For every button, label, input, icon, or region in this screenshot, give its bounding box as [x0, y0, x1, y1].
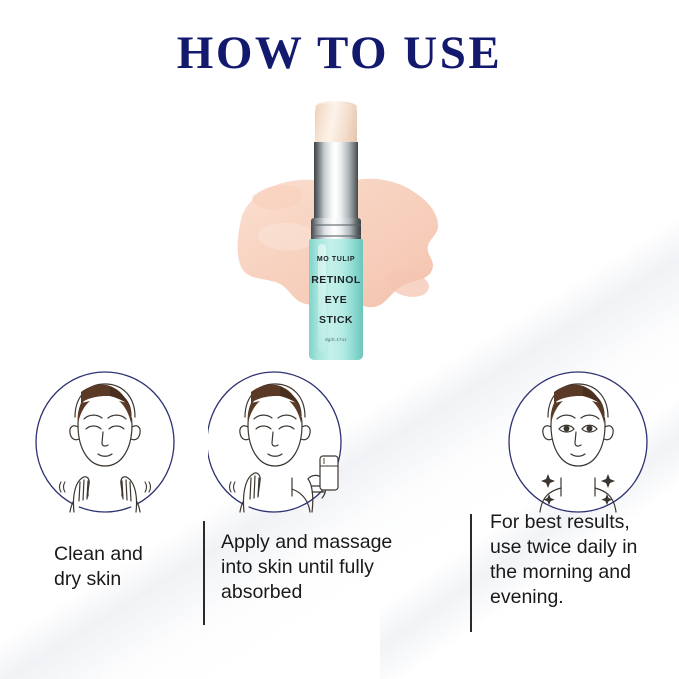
step-1-caption-line-2: dry skin — [54, 567, 143, 592]
chrome-barrel — [314, 142, 358, 220]
step-3-caption-line-2: use twice daily in — [490, 535, 637, 560]
product-net-weight: 8g/0.17oz — [309, 337, 363, 342]
collar-groove-top — [311, 224, 361, 226]
held-product-icon — [320, 456, 338, 490]
step-3-caption-line-3: the morning and — [490, 560, 637, 585]
step-divider-2 — [470, 514, 472, 632]
step-2: Apply and massage into skin until fully … — [208, 370, 458, 515]
step-2-caption: Apply and massage into skin until fully … — [221, 530, 392, 605]
step-3-illustration — [478, 370, 678, 515]
step-3-caption-line-1: For best results, — [490, 510, 637, 535]
step-1-caption-line-1: Clean and — [54, 542, 143, 567]
page-title: HOW TO USE — [0, 26, 679, 80]
step-2-illustration — [208, 370, 458, 515]
product-stick: MO TULIP RETINOL EYE STICK 8g/0.17oz — [300, 98, 372, 366]
hero-product-section: MO TULIP RETINOL EYE STICK 8g/0.17oz — [0, 90, 679, 375]
balm-tip — [315, 104, 357, 144]
step-1-illustration — [18, 370, 193, 515]
product-name-line2: EYE — [309, 294, 363, 306]
step-1: Clean and dry skin — [18, 370, 193, 515]
collar-groove-bottom — [311, 235, 361, 237]
step-2-caption-line-1: Apply and massage — [221, 530, 392, 555]
step-3-caption: For best results, use twice daily in the… — [490, 510, 637, 610]
steps-section: Clean and dry skin — [0, 370, 679, 679]
product-name-line3: STICK — [309, 314, 363, 326]
step-3-caption-line-4: evening. — [490, 585, 637, 610]
how-to-use-infographic: HOW TO USE — [0, 0, 679, 679]
step-3: For best results, use twice daily in the… — [478, 370, 678, 515]
step-1-caption: Clean and dry skin — [54, 542, 143, 592]
step-2-caption-line-3: absorbed — [221, 580, 392, 605]
product-name-line1: RETINOL — [309, 274, 363, 286]
step-divider-1 — [203, 521, 205, 625]
step-2-caption-line-2: into skin until fully — [221, 555, 392, 580]
product-brand-label: MO TULIP — [309, 256, 363, 263]
